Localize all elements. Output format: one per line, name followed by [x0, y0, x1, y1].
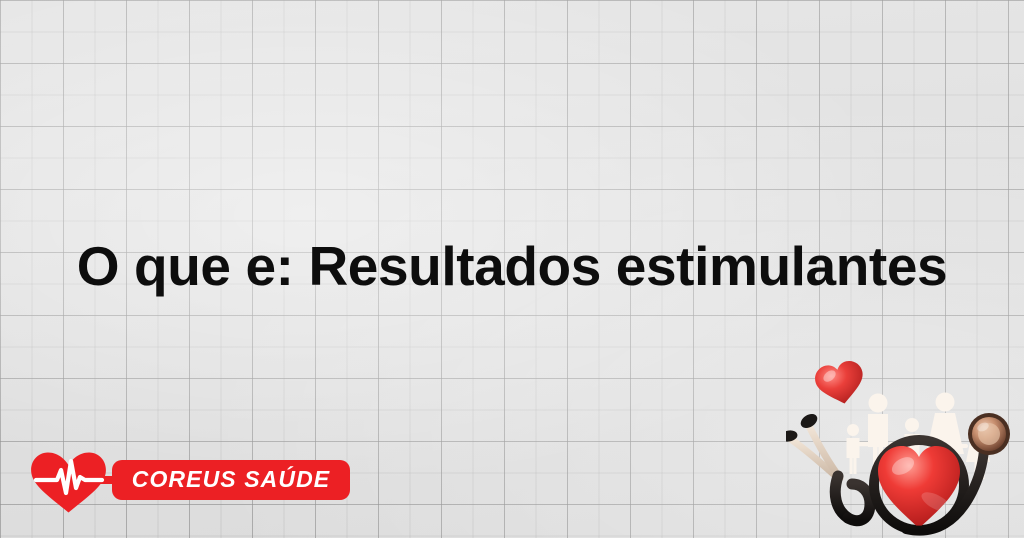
small-red-heart [813, 358, 868, 408]
slide-canvas: O que e: Resultados estimulantes COREUS … [0, 0, 1024, 538]
brand-logo[interactable]: COREUS SAÚDE [28, 448, 350, 514]
heart-with-ecg-pulse-icon [28, 448, 124, 514]
stethoscope-chestpiece [968, 413, 1010, 455]
brand-name-label: COREUS SAÚDE [112, 467, 350, 492]
slide-headline: O que e: Resultados estimulantes [0, 234, 1024, 298]
brand-name-pill: COREUS SAÚDE [112, 460, 350, 500]
health-care-collage [786, 352, 1024, 538]
